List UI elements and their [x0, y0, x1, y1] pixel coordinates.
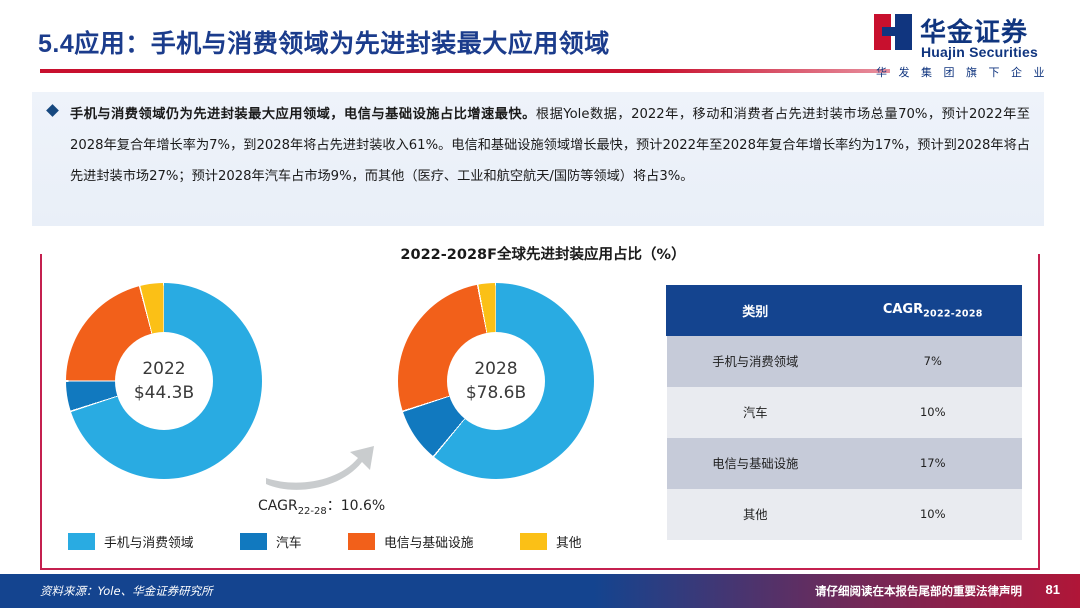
table-header-category: 类别	[667, 286, 845, 336]
cagr-table: 类别 CAGR2022-2028 手机与消费领域7%汽车10%电信与基础设施17…	[666, 285, 1022, 540]
table-header-cagr: CAGR2022-2028	[844, 286, 1022, 336]
table-header-cagr-main: CAGR	[883, 302, 923, 317]
table-cell-cagr: 17%	[844, 438, 1022, 489]
donut-center-value-2028: $78.6B	[466, 381, 526, 405]
legend-item-1[interactable]: 汽车	[240, 532, 302, 551]
legend-swatch-icon-0	[68, 533, 95, 550]
donut-center-year-2028: 2028	[474, 357, 517, 381]
footer-page-number: 81	[1046, 582, 1060, 597]
footer-disclaimer: 请仔细阅读在本报告尾部的重要法律声明	[815, 583, 1022, 599]
table-row: 电信与基础设施17%	[667, 438, 1022, 489]
donut-ring-2028: 2028 $78.6B	[398, 283, 594, 479]
cagr-annotation: CAGR22-28：10.6%	[258, 495, 385, 517]
table-body: 手机与消费领域7%汽车10%电信与基础设施17%其他10%	[667, 336, 1022, 540]
donut-chart-2028: 2028 $78.6B	[398, 283, 594, 479]
page-title: 5.4应用：手机与消费领域为先进封装最大应用领域	[38, 24, 610, 60]
cagr-subscript: 22-28	[298, 506, 327, 517]
legend-label-3: 其他	[556, 532, 582, 551]
table-cell-category: 电信与基础设施	[667, 438, 845, 489]
legend-label-0: 手机与消费领域	[104, 532, 194, 551]
table-row: 手机与消费领域7%	[667, 336, 1022, 387]
cagr-prefix: CAGR	[258, 498, 298, 514]
table-header-row: 类别 CAGR2022-2028	[667, 286, 1022, 336]
chart-legend: 手机与消费领域 汽车 电信与基础设施 其他	[68, 532, 608, 554]
donut-center-label-2028: 2028 $78.6B	[447, 332, 545, 430]
summary-bold-lead: 手机与消费领域仍为先进封装最大应用领域，电信与基础设施占比增速最快。	[70, 107, 536, 122]
legend-label-2: 电信与基础设施	[384, 532, 474, 551]
logo-name-en: Huajin Securities	[921, 44, 1038, 60]
logo-mark-icon	[874, 14, 912, 50]
table-header-cagr-sub: 2022-2028	[923, 308, 983, 319]
summary-text-panel: 手机与消费领域仍为先进封装最大应用领域，电信与基础设施占比增速最快。根据Yole…	[32, 92, 1044, 226]
table-cell-cagr: 7%	[844, 336, 1022, 387]
donut-chart-2022: 2022 $44.3B	[66, 283, 262, 479]
donut-center-label-2022: 2022 $44.3B	[115, 332, 213, 430]
table-row: 其他10%	[667, 489, 1022, 540]
logo-subtitle: 华 发 集 团 旗 下 企 业	[876, 64, 1048, 80]
summary-paragraph: 手机与消费领域仍为先进封装最大应用领域，电信与基础设施占比增速最快。根据Yole…	[70, 99, 1030, 192]
donut-center-value-2022: $44.3B	[134, 381, 194, 405]
table-cell-category: 汽车	[667, 387, 845, 438]
table-cell-category: 其他	[667, 489, 845, 540]
legend-item-2[interactable]: 电信与基础设施	[348, 532, 474, 551]
growth-arrow-icon	[262, 444, 392, 496]
slide-header: 5.4应用：手机与消费领域为先进封装最大应用领域 华金证券 Huajin Sec…	[0, 0, 1080, 88]
table-row: 汽车10%	[667, 387, 1022, 438]
legend-item-0[interactable]: 手机与消费领域	[68, 532, 194, 551]
donut-ring-2022: 2022 $44.3B	[66, 283, 262, 479]
title-underline-rule	[40, 69, 890, 73]
legend-label-1: 汽车	[276, 532, 302, 551]
slide-footer: 资料来源：Yole、华金证券研究所 请仔细阅读在本报告尾部的重要法律声明 81	[0, 574, 1080, 608]
donut-center-year-2022: 2022	[142, 357, 185, 381]
table-cell-category: 手机与消费领域	[667, 336, 845, 387]
legend-swatch-icon-2	[348, 533, 375, 550]
legend-swatch-icon-1	[240, 533, 267, 550]
cagr-colon: ：	[327, 498, 341, 514]
table-cell-cagr: 10%	[844, 489, 1022, 540]
table-cell-cagr: 10%	[844, 387, 1022, 438]
chart-title: 2022-2028F全球先进封装应用占比（%）	[390, 243, 696, 264]
slide-root: 5.4应用：手机与消费领域为先进封装最大应用领域 华金证券 Huajin Sec…	[0, 0, 1080, 608]
legend-item-3[interactable]: 其他	[520, 532, 582, 551]
bullet-diamond-icon	[46, 104, 59, 117]
footer-source: 资料来源：Yole、华金证券研究所	[40, 583, 213, 599]
huajin-securities-logo: 华金证券 Huajin Securities 华 发 集 团 旗 下 企 业	[874, 14, 1064, 76]
cagr-value: 10.6%	[341, 498, 385, 514]
legend-swatch-icon-3	[520, 533, 547, 550]
